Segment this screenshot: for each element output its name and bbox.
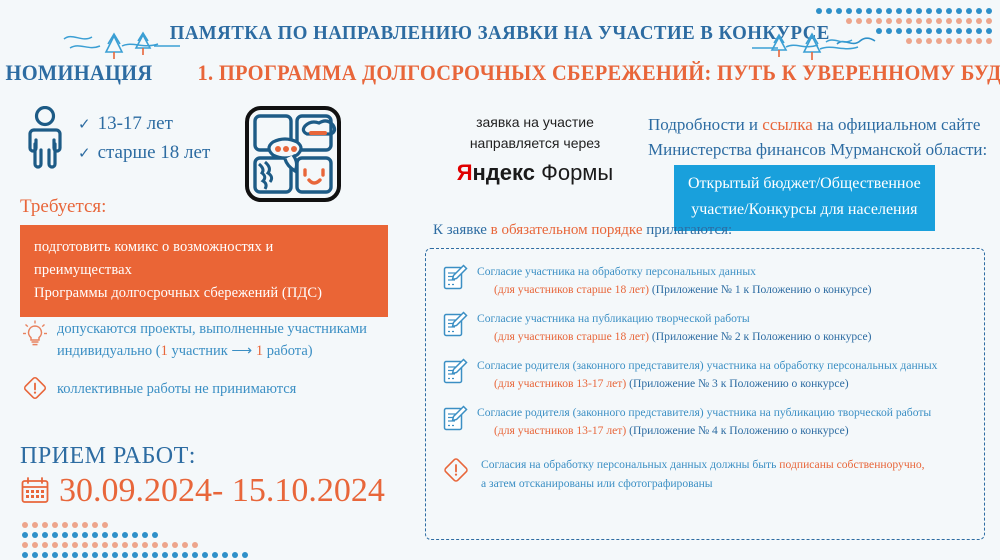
document-pen-icon <box>442 405 468 433</box>
note-line-2-pre: индивидуально ( <box>57 343 161 359</box>
ministry-block: Подробности и ссылка на официальном сайт… <box>648 112 988 162</box>
note-num-2: 1 <box>256 343 263 359</box>
yandex-lead-line-1: заявка на участие <box>440 112 630 133</box>
deadline-date-range: 30.09.2024- 15.10.2024 <box>59 472 385 510</box>
dot-row <box>816 8 992 14</box>
requirement-line-1: подготовить комикс о возможностях и преи… <box>34 236 374 282</box>
ministry-box-line-1: Открытый бюджет/Общественное <box>688 171 921 197</box>
attachment-text: Согласие участника на обработку персонал… <box>477 263 871 299</box>
ministry-line-2: Министерства финансов Мурманской области… <box>648 137 988 162</box>
age-list: ✓13-17 лет ✓старше 18 лет <box>78 110 210 168</box>
dot-row <box>22 532 248 538</box>
attachments-warning: Согласия на обработку персональных данны… <box>442 455 968 493</box>
yandex-lead-line-2: направляется через <box>440 133 630 154</box>
attachment-title: Согласие участника на публикацию творчес… <box>477 310 871 328</box>
dot-row <box>22 552 248 558</box>
title-line-2-subject: 1. ПРОГРАММА ДОЛГОСРОЧНЫХ СБЕРЕЖЕНИЙ: ПУ… <box>197 60 1000 86</box>
attachment-sub: (для участников 13-17 лет) (Приложение №… <box>477 422 931 440</box>
warning-diamond-icon <box>22 375 48 401</box>
note-line-1: допускаются проекты, выполненные участни… <box>57 321 367 337</box>
title-line-2: НОМИНАЦИЯ 1. ПРОГРАММА ДОЛГОСРОЧНЫХ СБЕР… <box>0 60 1000 86</box>
note-no-collective-works: коллективные работы не принимаются <box>22 375 402 401</box>
fir-tree-decoration-right <box>752 26 872 62</box>
note-individual-projects: допускаются проекты, выполненные участни… <box>22 318 402 362</box>
attachments-warning-text: Согласия на обработку персональных данны… <box>481 455 925 493</box>
note-line-2-mid: участник ⟶ <box>168 343 256 359</box>
attachment-text: Согласие родителя (законного представите… <box>477 404 931 440</box>
document-pen-icon <box>442 358 468 386</box>
attachment-text: Согласие участника на публикацию творчес… <box>477 310 871 346</box>
attachment-item: Согласие родителя (законного представите… <box>442 404 968 440</box>
note-text: коллективные работы не принимаются <box>57 375 296 400</box>
attachment-title: Согласие родителя (законного представите… <box>477 357 937 375</box>
warning-line-1-accent: подписаны собственноручно, <box>779 458 924 471</box>
attachment-sub: (для участников 13-17 лет) (Приложение №… <box>477 375 937 393</box>
attachment-text: Согласие родителя (законного представите… <box>477 357 937 393</box>
attachments-heading-accent: в обязательном порядке <box>491 222 643 238</box>
attachments-heading-post: прилагаются: <box>643 222 733 238</box>
attachment-sub: (для участников старше 18 лет) (Приложен… <box>477 281 871 299</box>
check-icon: ✓ <box>78 146 91 162</box>
yandex-logo-letter: Я <box>457 160 473 185</box>
comic-strip-icon <box>243 104 343 204</box>
attachment-sub: (для участников старше 18 лет) (Приложен… <box>477 328 871 346</box>
person-icon <box>24 106 66 170</box>
dot-row <box>22 522 248 528</box>
requirement-box: подготовить комикс о возможностях и преи… <box>20 225 388 317</box>
yandex-forms-logo[interactable]: Яндекс Формы <box>440 160 630 186</box>
warning-diamond-icon <box>442 456 470 484</box>
dots-bottom-left <box>22 522 248 558</box>
age-item: ✓13-17 лет <box>78 110 210 139</box>
attachment-title: Согласие родителя (законного представите… <box>477 404 931 422</box>
dot-row <box>22 542 248 548</box>
attachments-box: Согласие участника на обработку персонал… <box>425 248 985 540</box>
yandex-forms-block: заявка на участие направляется через Янд… <box>440 112 630 186</box>
age-label: 13-17 лет <box>98 113 173 134</box>
ministry-line-1-post: на официальном сайте <box>813 115 981 134</box>
note-num-1: 1 <box>161 343 168 359</box>
ministry-line-1-pre: Подробности и <box>648 115 762 134</box>
yandex-logo-rest: Формы <box>535 160 613 185</box>
attachment-item: Согласие участника на публикацию творчес… <box>442 310 968 346</box>
requirement-label: Требуется: <box>20 196 106 218</box>
attachment-item: Согласие родителя (законного представите… <box>442 357 968 393</box>
ministry-box-line-2: участие/Конкурсы для населения <box>688 197 921 223</box>
warning-line-1-pre: Согласия на обработку персональных данны… <box>481 458 779 471</box>
attachment-item: Согласие участника на обработку персонал… <box>442 263 968 299</box>
calendar-icon <box>20 476 50 506</box>
age-label: старше 18 лет <box>98 142 211 163</box>
title-line-1: ПАМЯТКА ПО НАПРАВЛЕНИЮ ЗАЯВКИ НА УЧАСТИЕ… <box>170 22 830 45</box>
note-line-2-post: работа) <box>263 343 313 359</box>
lightbulb-icon <box>22 320 48 350</box>
check-icon: ✓ <box>78 117 91 133</box>
ministry-link-word[interactable]: ссылка <box>762 115 813 134</box>
title-line-2-nomination: НОМИНАЦИЯ <box>6 60 153 86</box>
deadline-label: ПРИЕМ РАБОТ: <box>20 443 196 470</box>
attachment-title: Согласие участника на обработку персонал… <box>477 263 871 281</box>
warning-line-2: а затем отсканированы или сфотографирова… <box>481 477 713 490</box>
infographic-poster: ПАМЯТКА ПО НАПРАВЛЕНИЮ ЗАЯВКИ НА УЧАСТИЕ… <box>0 0 1000 560</box>
deadline-row: 30.09.2024- 15.10.2024 <box>20 472 385 510</box>
attachments-heading-pre: К заявке <box>433 222 491 238</box>
document-pen-icon <box>442 311 468 339</box>
yandex-logo-bold: ндекс <box>473 160 535 185</box>
ministry-line-1: Подробности и ссылка на официальном сайт… <box>648 112 988 137</box>
age-item: ✓старше 18 лет <box>78 139 210 168</box>
note-text: допускаются проекты, выполненные участни… <box>57 318 367 362</box>
document-pen-icon <box>442 264 468 292</box>
requirement-line-2: Программы долгосрочных сбережений (ПДС) <box>34 282 374 305</box>
attachments-heading: К заявке в обязательном порядке прилагаю… <box>433 222 732 239</box>
